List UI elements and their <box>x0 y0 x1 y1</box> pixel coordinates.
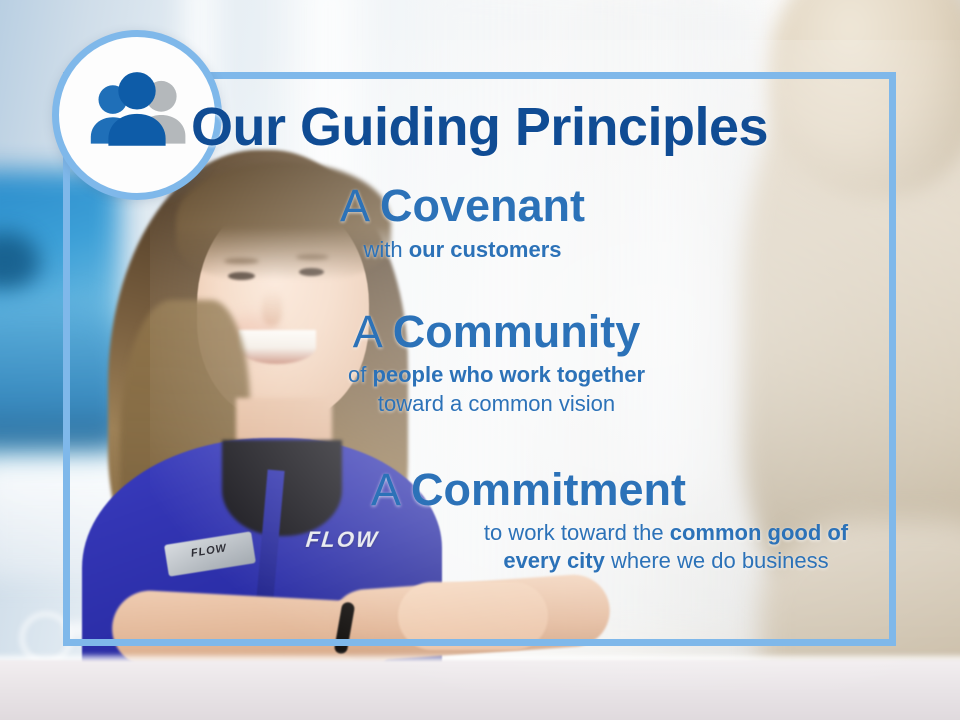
principle-covenant: A Covenant with our customers <box>29 182 896 264</box>
principle-keyword: Commitment <box>411 464 686 515</box>
principle-subtitle: to work toward the common good of every … <box>456 519 876 575</box>
principle-heading: A Commitment <box>161 466 896 515</box>
principle-lead: A <box>340 180 380 231</box>
principle-keyword: Community <box>393 306 641 357</box>
principle-lead: A <box>371 464 411 515</box>
principles-list: A Covenant with our customers A Communit… <box>63 182 896 576</box>
page-title: Our Guiding Principles <box>63 96 896 158</box>
promo-banner: FLOW FLOW Our Guiding Principles A Coven… <box>0 0 960 720</box>
principle-commitment: A Commitment to work toward the common g… <box>161 466 896 576</box>
principle-keyword: Covenant <box>380 180 585 231</box>
principle-heading: A Covenant <box>29 182 896 231</box>
principle-lead: A <box>353 306 393 357</box>
principle-heading: A Community <box>97 308 896 357</box>
principle-subtitle: with our customers <box>29 236 896 264</box>
principle-subtitle: of people who work togethertoward a comm… <box>97 361 896 417</box>
principle-community: A Community of people who work togethert… <box>97 308 896 418</box>
